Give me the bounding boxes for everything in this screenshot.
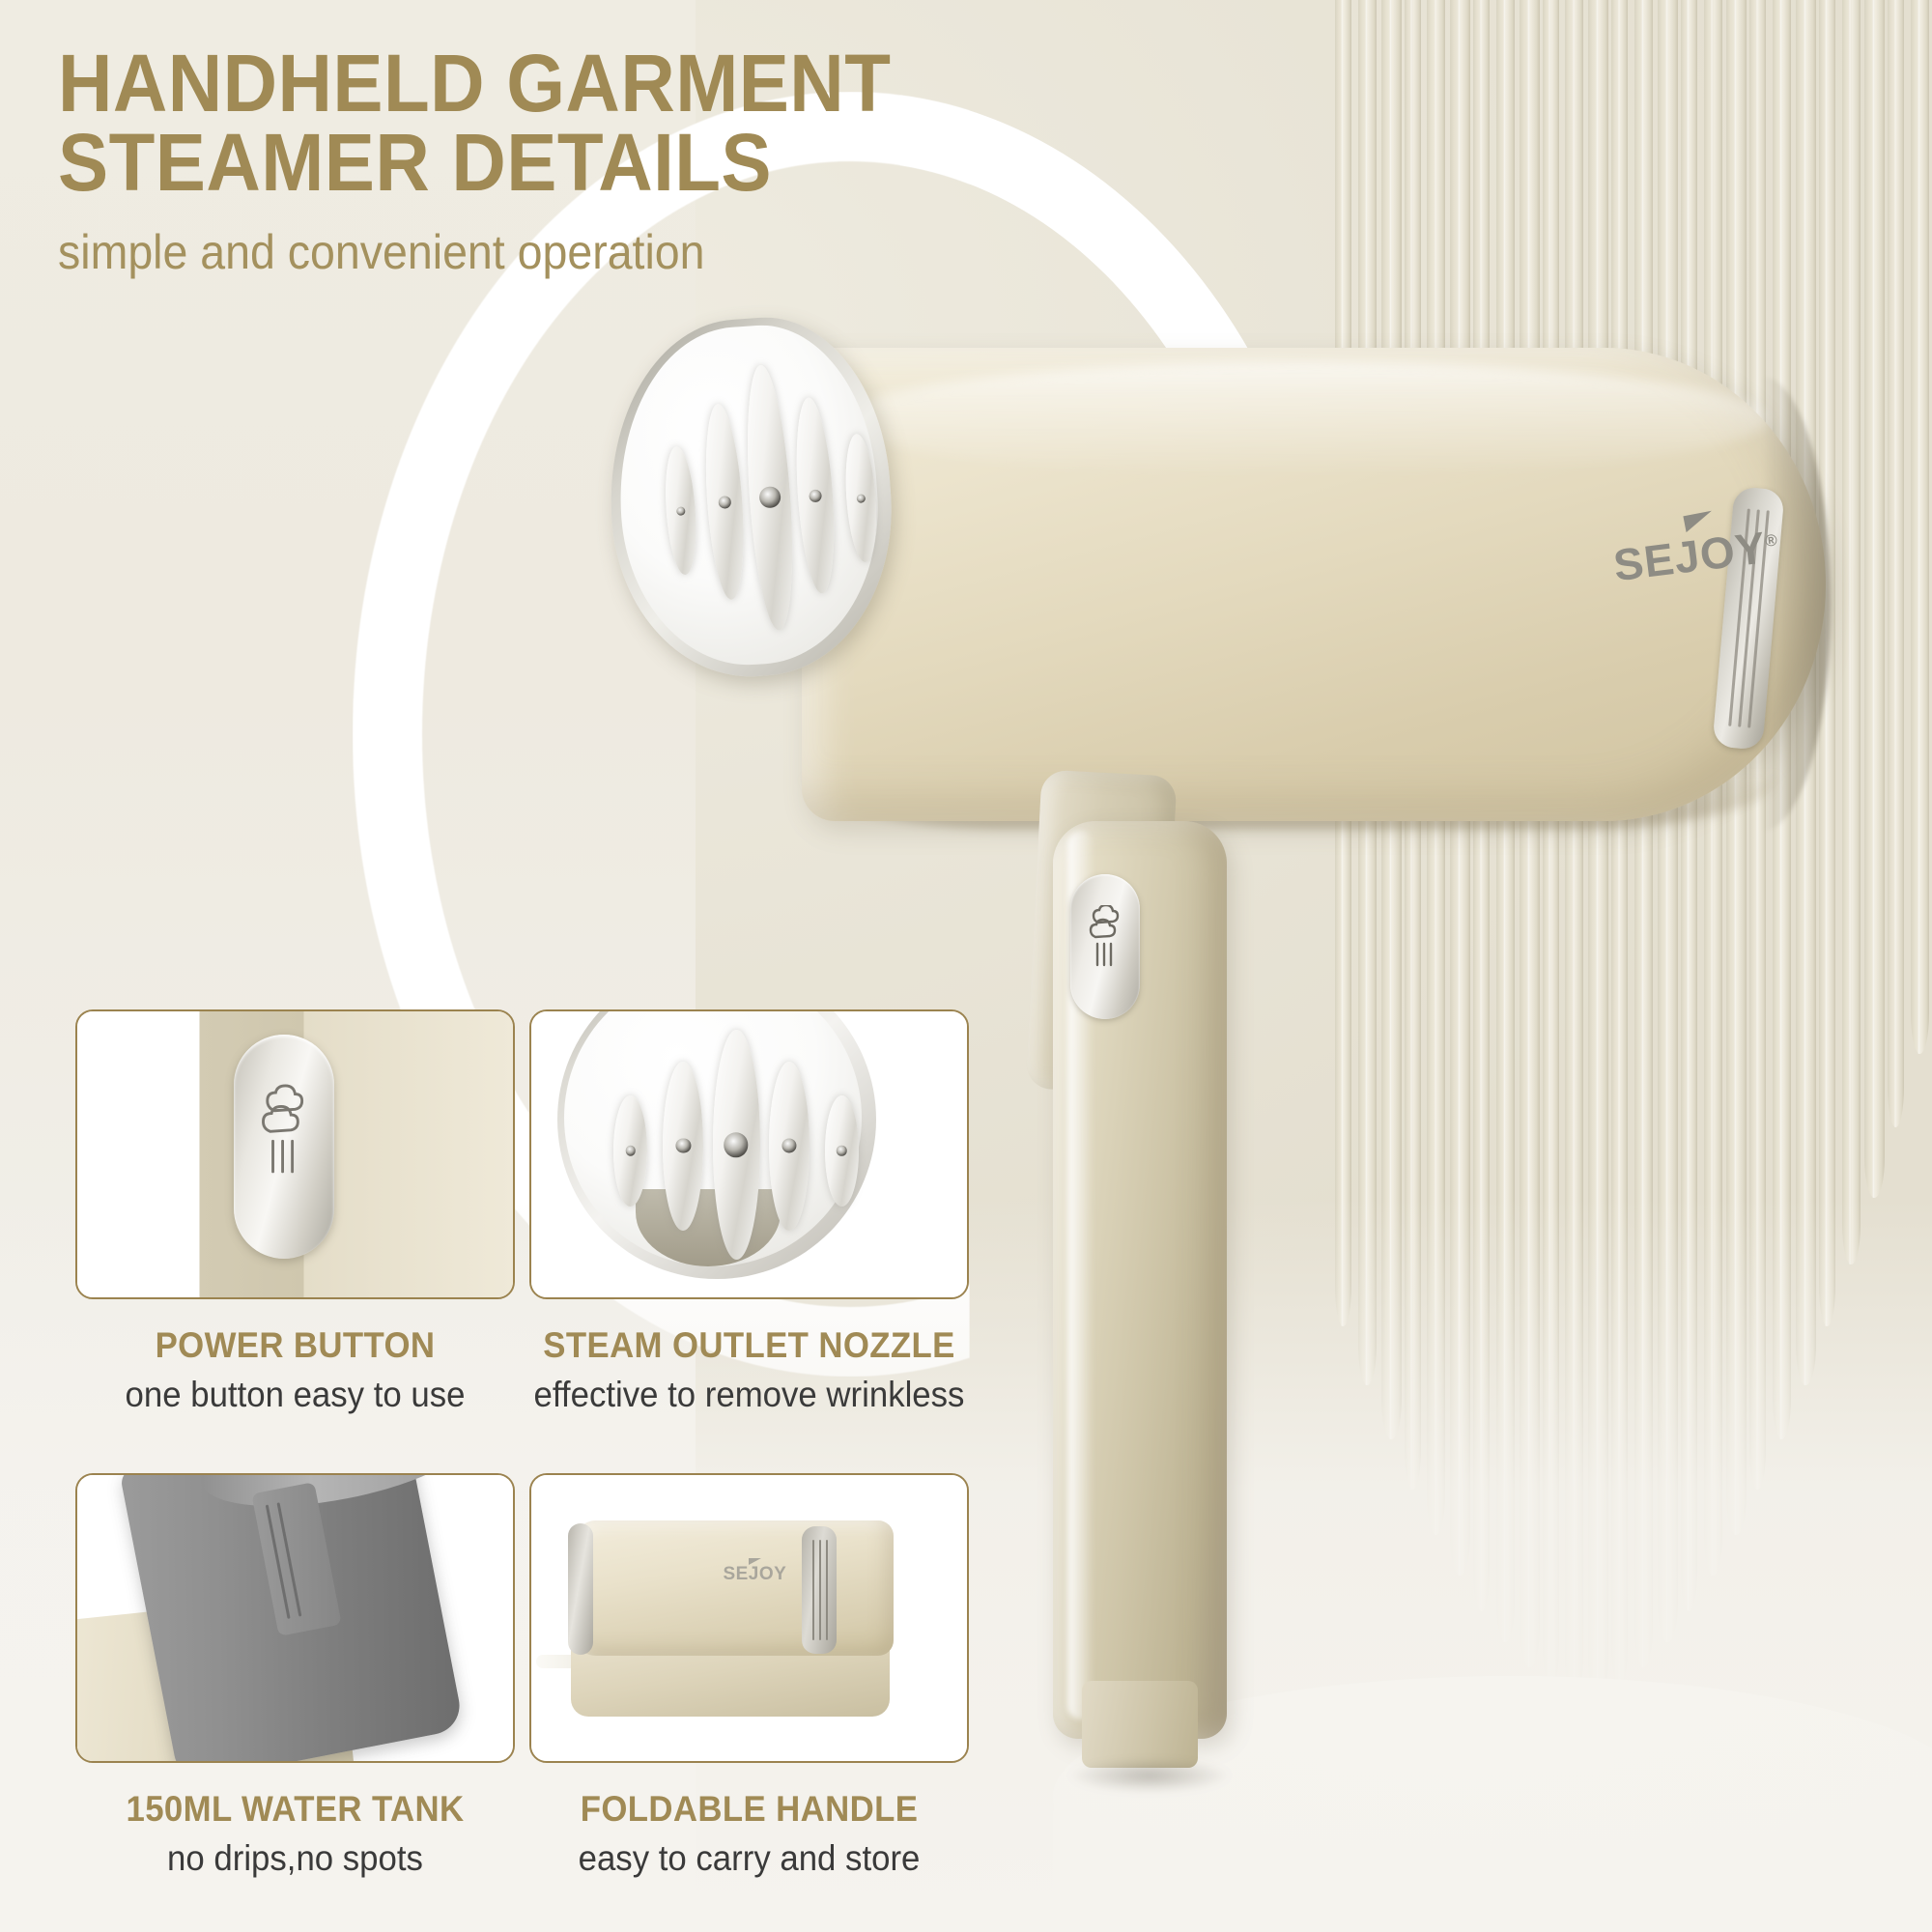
nozzle-ridge — [741, 363, 800, 632]
steam-hole — [626, 1146, 637, 1156]
body-highlight — [840, 361, 1768, 477]
steam-cloud-icon — [1083, 905, 1127, 977]
nozzle-ridge — [662, 445, 699, 576]
nozzle-ridge — [613, 1095, 647, 1207]
brand-logo-small: SEJOY — [723, 1564, 786, 1585]
feature-title: FOLDABLE HANDLE — [506, 1789, 992, 1830]
feature-description: one button easy to use — [89, 1375, 502, 1415]
nozzle-ridges-closeup — [580, 1023, 850, 1264]
steam-hole — [676, 1139, 691, 1153]
steam-hole — [809, 489, 822, 502]
nozzle-ridge — [769, 1062, 810, 1231]
nozzle-ridge — [701, 403, 750, 601]
handle-foot — [1082, 1681, 1198, 1768]
power-button-closeup — [234, 1035, 334, 1259]
folded-body — [575, 1520, 894, 1656]
logo-flag-icon — [749, 1558, 761, 1565]
feature-title: 150ML WATER TANK — [89, 1789, 502, 1830]
page-title: HANDHELD GARMENT STEAMER DETAILS — [58, 43, 1046, 203]
feature-card-water-tank[interactable] — [75, 1473, 515, 1763]
steam-hole — [837, 1146, 847, 1156]
caption-power-button: POWER BUTTON one button easy to use — [75, 1325, 515, 1415]
steam-hole — [719, 496, 732, 509]
nozzle-ridge — [663, 1062, 703, 1231]
nozzle-ridges — [626, 350, 877, 645]
feature-card-steam-outlet-nozzle[interactable] — [529, 1009, 969, 1299]
steam-hole — [724, 1132, 748, 1156]
feature-card-foldable-handle[interactable]: SEJOY — [529, 1473, 969, 1763]
feature-description: effective to remove wrinkless — [506, 1375, 992, 1415]
power-button[interactable] — [1070, 874, 1140, 1019]
header-block: HANDHELD GARMENT STEAMER DETAILS simple … — [58, 43, 1121, 280]
nozzle-ridge — [825, 1095, 859, 1207]
feature-description: no drips,no spots — [89, 1838, 502, 1879]
feature-description: easy to carry and store — [506, 1838, 992, 1879]
caption-steam-outlet-nozzle: STEAM OUTLET NOZZLE effective to remove … — [491, 1325, 1008, 1415]
brand-name: SEJOY — [723, 1564, 786, 1584]
steam-hole — [676, 506, 686, 516]
feature-card-power-button[interactable] — [75, 1009, 515, 1299]
caption-foldable-handle: FOLDABLE HANDLE easy to carry and store — [491, 1789, 1008, 1879]
folded-end-cap — [568, 1523, 593, 1655]
steam-hole — [759, 486, 781, 508]
steam-hole — [856, 494, 866, 503]
feature-title: POWER BUTTON — [89, 1325, 502, 1366]
brand-trademark: ® — [1764, 530, 1779, 551]
infographic-stage: SEJOY® HANDHELD GARMENT STEAMER DETAILS … — [0, 0, 1932, 1932]
nozzle-ridge — [713, 1030, 760, 1260]
nozzle-ridge — [791, 397, 839, 595]
page-subtitle: simple and convenient operation — [58, 224, 1046, 280]
steam-cloud-icon — [252, 1083, 316, 1191]
handle-foot-shadow — [1067, 1758, 1232, 1793]
caption-water-tank: 150ML WATER TANK no drips,no spots — [75, 1789, 515, 1879]
folded-vent-icon — [802, 1526, 837, 1654]
steam-hole — [781, 1139, 796, 1153]
feature-title: STEAM OUTLET NOZZLE — [506, 1325, 992, 1366]
